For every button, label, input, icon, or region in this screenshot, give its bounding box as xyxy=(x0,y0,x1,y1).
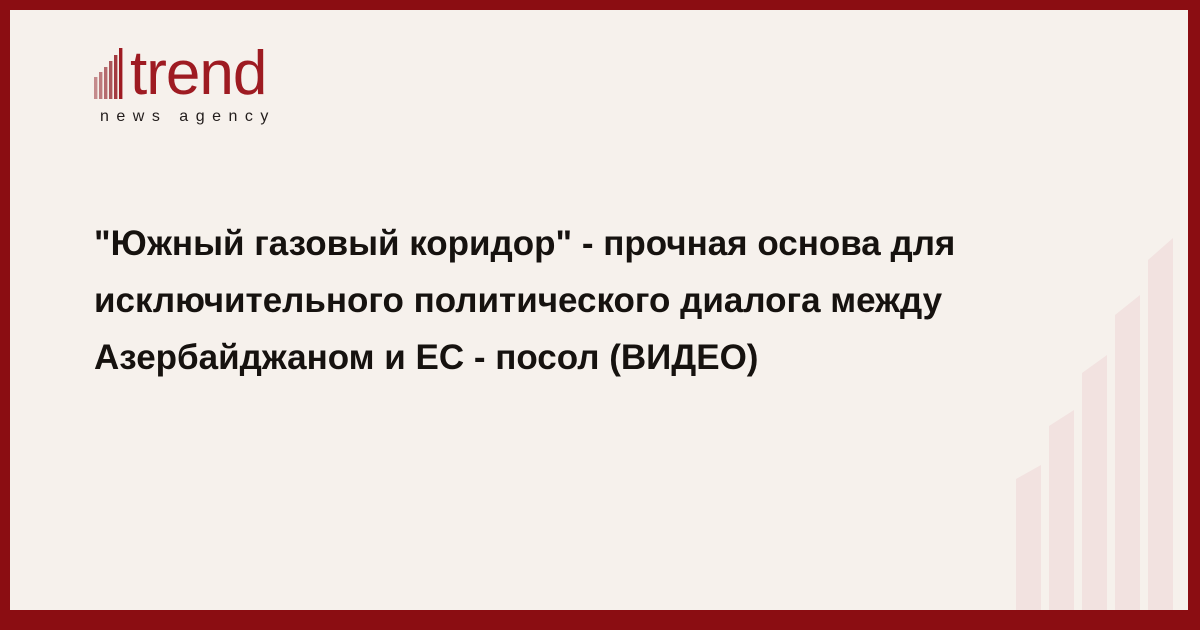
headline-line-2: исключительного политического диалога ме… xyxy=(94,272,1049,329)
social-share-card: trend news agency "Южный газовый коридор… xyxy=(0,0,1200,630)
headline-line-3: Азербайджаном и ЕС - посол (ВИДЕО) xyxy=(94,329,1049,386)
watermark-bar-5 xyxy=(1148,238,1173,610)
trend-logo[interactable]: trend news agency xyxy=(94,40,454,126)
logo-row: trend xyxy=(94,40,454,102)
logo-wordmark: trend xyxy=(130,47,266,102)
watermark-bar-2 xyxy=(1049,410,1074,610)
watermark-bar-1 xyxy=(1016,465,1041,610)
watermark-bar-3 xyxy=(1082,355,1107,610)
headline-line-1: "Южный газовый коридор" - прочная основа… xyxy=(94,215,1049,272)
headline: "Южный газовый коридор" - прочная основа… xyxy=(94,215,1049,386)
card-canvas: trend news agency "Южный газовый коридор… xyxy=(10,10,1188,610)
logo-tagline: news agency xyxy=(100,108,454,126)
trend-ascending-bars-mark xyxy=(94,47,128,99)
watermark-bar-4 xyxy=(1115,295,1140,610)
